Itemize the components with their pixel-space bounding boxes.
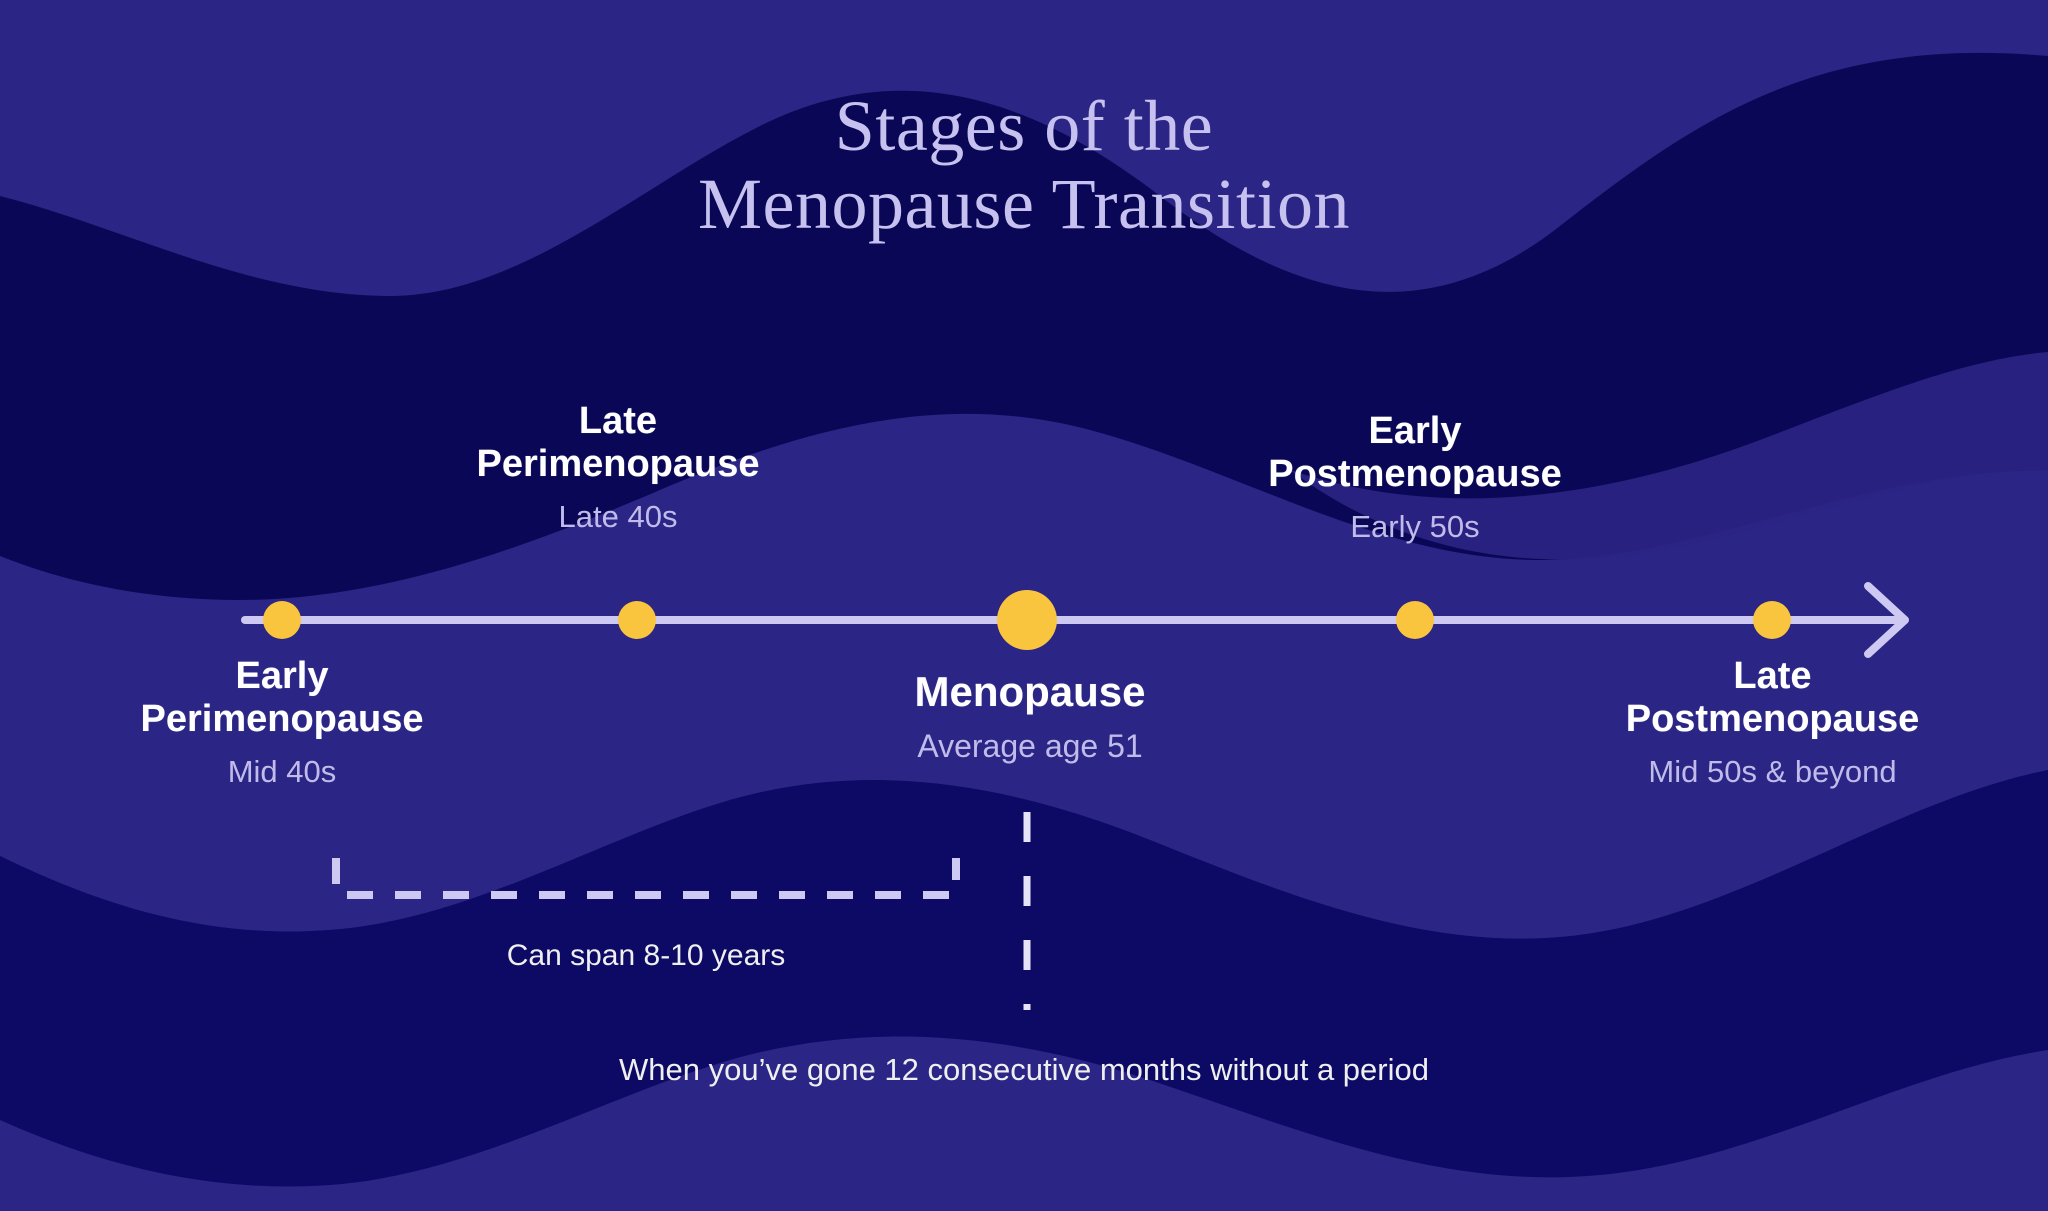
timeline-dot-icon[interactable] bbox=[618, 601, 656, 639]
timeline-graphic bbox=[0, 0, 2048, 1211]
timeline-dot-icon[interactable] bbox=[997, 590, 1057, 650]
timeline-dot-icon[interactable] bbox=[1753, 601, 1791, 639]
timeline-dot-icon[interactable] bbox=[1396, 601, 1434, 639]
span-bracket bbox=[336, 858, 956, 895]
timeline-dot-icon[interactable] bbox=[263, 601, 301, 639]
infographic-canvas: Stages of the Menopause Transition Early… bbox=[0, 0, 2048, 1211]
